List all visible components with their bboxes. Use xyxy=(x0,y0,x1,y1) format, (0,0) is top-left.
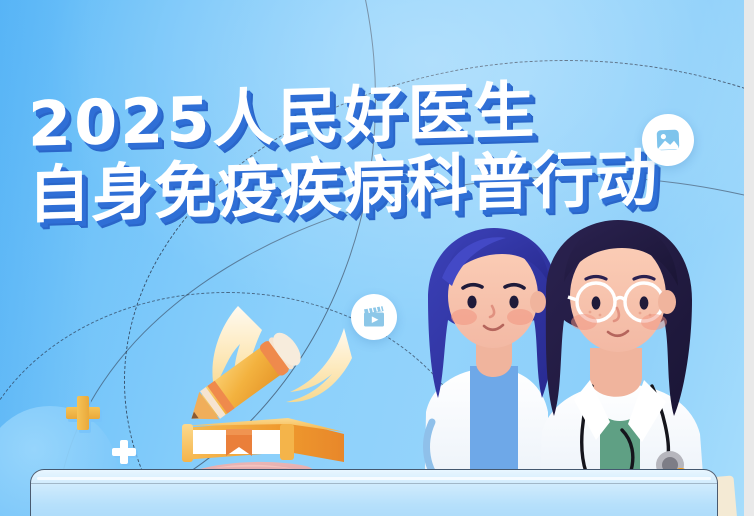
page-right-gutter xyxy=(744,0,754,516)
content-card-top-edge xyxy=(30,469,718,516)
plus-bar-vertical xyxy=(120,440,128,464)
decorative-plus-white xyxy=(112,440,136,464)
video-clapperboard-icon xyxy=(360,303,388,331)
book xyxy=(182,418,344,462)
plus-bar-vertical xyxy=(77,396,89,430)
banner-title-line2: 自身免疫疾病科普行动 xyxy=(28,148,658,226)
image-photo-icon xyxy=(649,121,686,158)
hero-banner: 2025人民好医生 自身免疫疾病科普行动 xyxy=(0,0,744,516)
screenshot-root: 2025人民好医生 自身免疫疾病科普行动 xyxy=(0,0,754,516)
banner-title: 2025人民好医生 自身免疫疾病科普行动 xyxy=(28,86,658,218)
decorative-plus-orange xyxy=(66,396,100,430)
